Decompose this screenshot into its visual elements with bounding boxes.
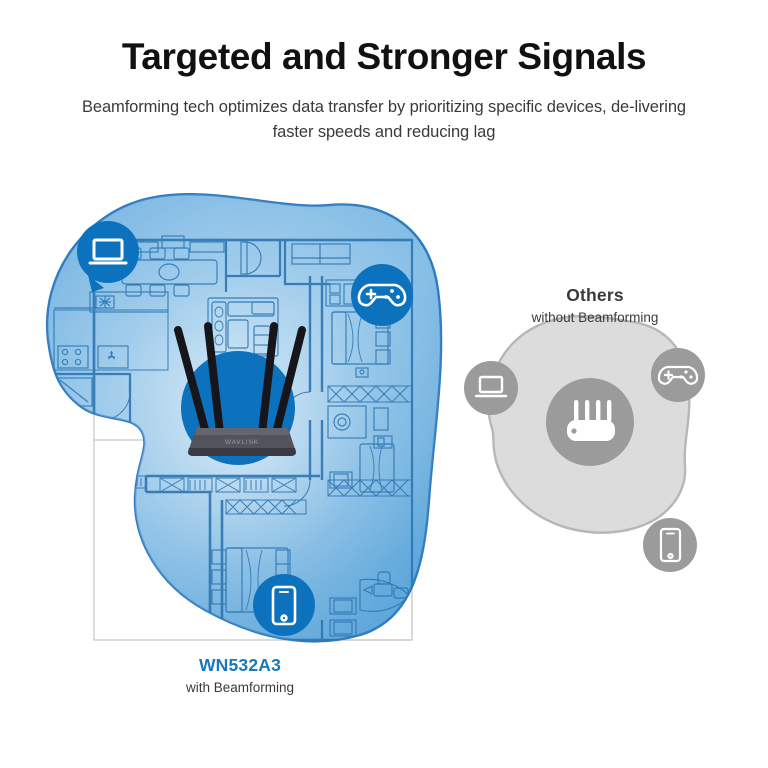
svg-text:WAVLINK: WAVLINK xyxy=(225,439,259,446)
wifi-router: WAVLINK xyxy=(188,428,296,456)
others-sublabel: without Beamforming xyxy=(455,310,735,325)
page-subtitle: Beamforming tech optimizes data transfer… xyxy=(74,95,694,146)
beamforming-caption: WN532A3 with Beamforming xyxy=(30,655,450,695)
device-badge-laptop-gray[interactable] xyxy=(464,361,518,415)
beamforming-diagram: WAVLINK xyxy=(30,180,450,680)
others-label: Others xyxy=(455,285,735,306)
router-model-label: WN532A3 xyxy=(30,655,450,676)
beamforming-svg: WAVLINK xyxy=(30,180,450,680)
device-badge-gamepad[interactable] xyxy=(351,264,413,326)
device-badge-gamepad-gray[interactable] xyxy=(651,348,705,402)
router-model-sublabel: with Beamforming xyxy=(30,680,450,695)
infographic-root: Targeted and Stronger Signals Beamformin… xyxy=(0,0,768,768)
others-caption: Others without Beamforming xyxy=(455,285,735,325)
device-badge-smartphone[interactable] xyxy=(253,574,315,636)
page-title: Targeted and Stronger Signals xyxy=(0,38,768,77)
header: Targeted and Stronger Signals Beamformin… xyxy=(0,0,768,146)
device-badge-smartphone-gray[interactable] xyxy=(643,518,697,572)
